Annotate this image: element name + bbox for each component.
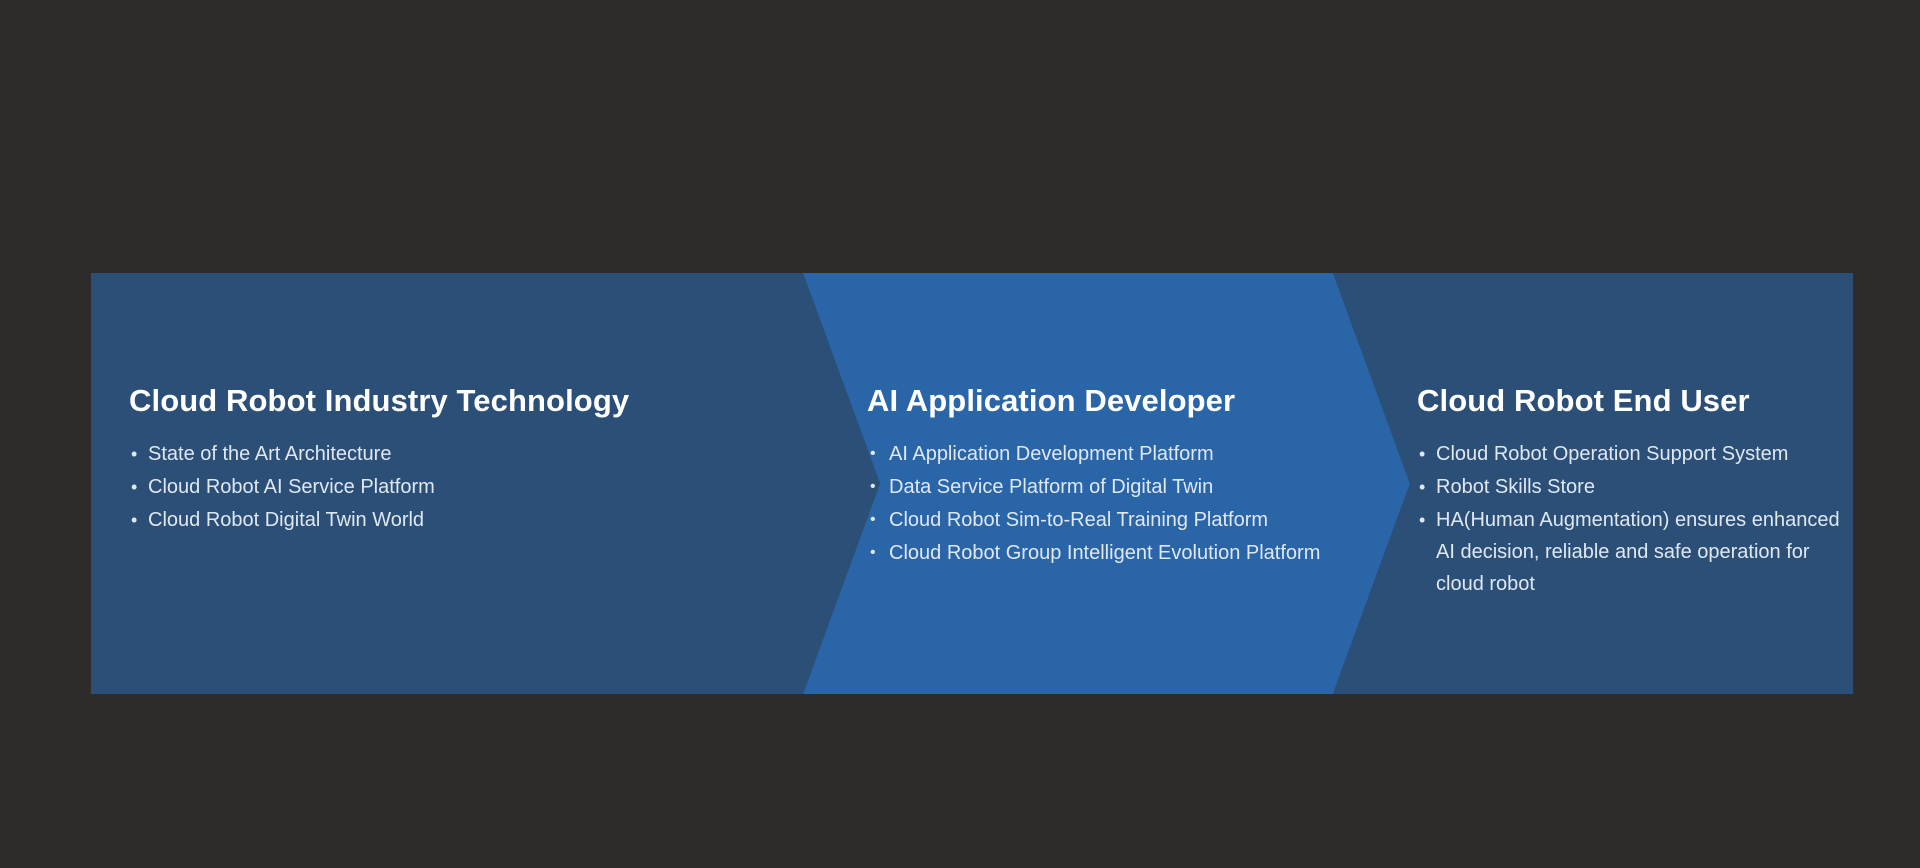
bullet-dot-icon: • [870,504,876,536]
bullet-dot-icon: • [1419,504,1425,536]
bullet-dot-icon: • [131,471,137,503]
bullet-text: State of the Art Architecture [148,438,729,470]
bullet-dot-icon: • [870,438,876,470]
panel-cloud-robot-industry-technology: Cloud Robot Industry Technology • State … [91,273,803,694]
bullet-text: Cloud Robot Operation Support System [1436,438,1847,470]
chevron-banner: Cloud Robot Industry Technology • State … [91,273,1853,694]
bullet-text: HA(Human Augmentation) ensures enhanced … [1436,504,1847,600]
panel-cloud-robot-end-user: Cloud Robot End User • Cloud Robot Opera… [1333,273,1853,694]
bullet-text: Robot Skills Store [1436,471,1847,503]
panel-title-2: AI Application Developer [867,384,1333,418]
list-item: • Cloud Robot Digital Twin World [129,504,729,536]
list-item: • State of the Art Architecture [129,438,729,470]
bullet-text: Data Service Platform of Digital Twin [889,471,1337,503]
panel-title-3: Cloud Robot End User [1417,384,1853,418]
bullet-list-2: • AI Application Development Platform • … [867,438,1337,570]
panel-ai-application-developer: AI Application Developer • AI Applicatio… [803,273,1333,694]
list-item: • AI Application Development Platform [867,438,1337,470]
bullet-dot-icon: • [870,471,876,503]
list-item: • Robot Skills Store [1417,471,1847,503]
panel-title-1: Cloud Robot Industry Technology [129,384,803,418]
list-item: • HA(Human Augmentation) ensures enhance… [1417,504,1847,600]
list-item: • Data Service Platform of Digital Twin [867,471,1337,503]
bullet-list-3: • Cloud Robot Operation Support System •… [1417,438,1847,601]
bullet-dot-icon: • [870,537,876,569]
bullet-text: AI Application Development Platform [889,438,1337,470]
bullet-dot-icon: • [131,504,137,536]
slide-canvas: Cloud Robot Industry Technology • State … [0,0,1920,868]
list-item: • Cloud Robot Group Intelligent Evolutio… [867,537,1337,569]
bullet-list-1: • State of the Art Architecture • Cloud … [129,438,729,537]
bullet-text: Cloud Robot Digital Twin World [148,504,729,536]
list-item: • Cloud Robot Operation Support System [1417,438,1847,470]
list-item: • Cloud Robot Sim-to-Real Training Platf… [867,504,1337,536]
bullet-text: Cloud Robot Sim-to-Real Training Platfor… [889,504,1337,536]
bullet-text: Cloud Robot AI Service Platform [148,471,729,503]
bullet-text: Cloud Robot Group Intelligent Evolution … [889,537,1337,569]
list-item: • Cloud Robot AI Service Platform [129,471,729,503]
bullet-dot-icon: • [131,438,137,470]
bullet-dot-icon: • [1419,438,1425,470]
bullet-dot-icon: • [1419,471,1425,503]
